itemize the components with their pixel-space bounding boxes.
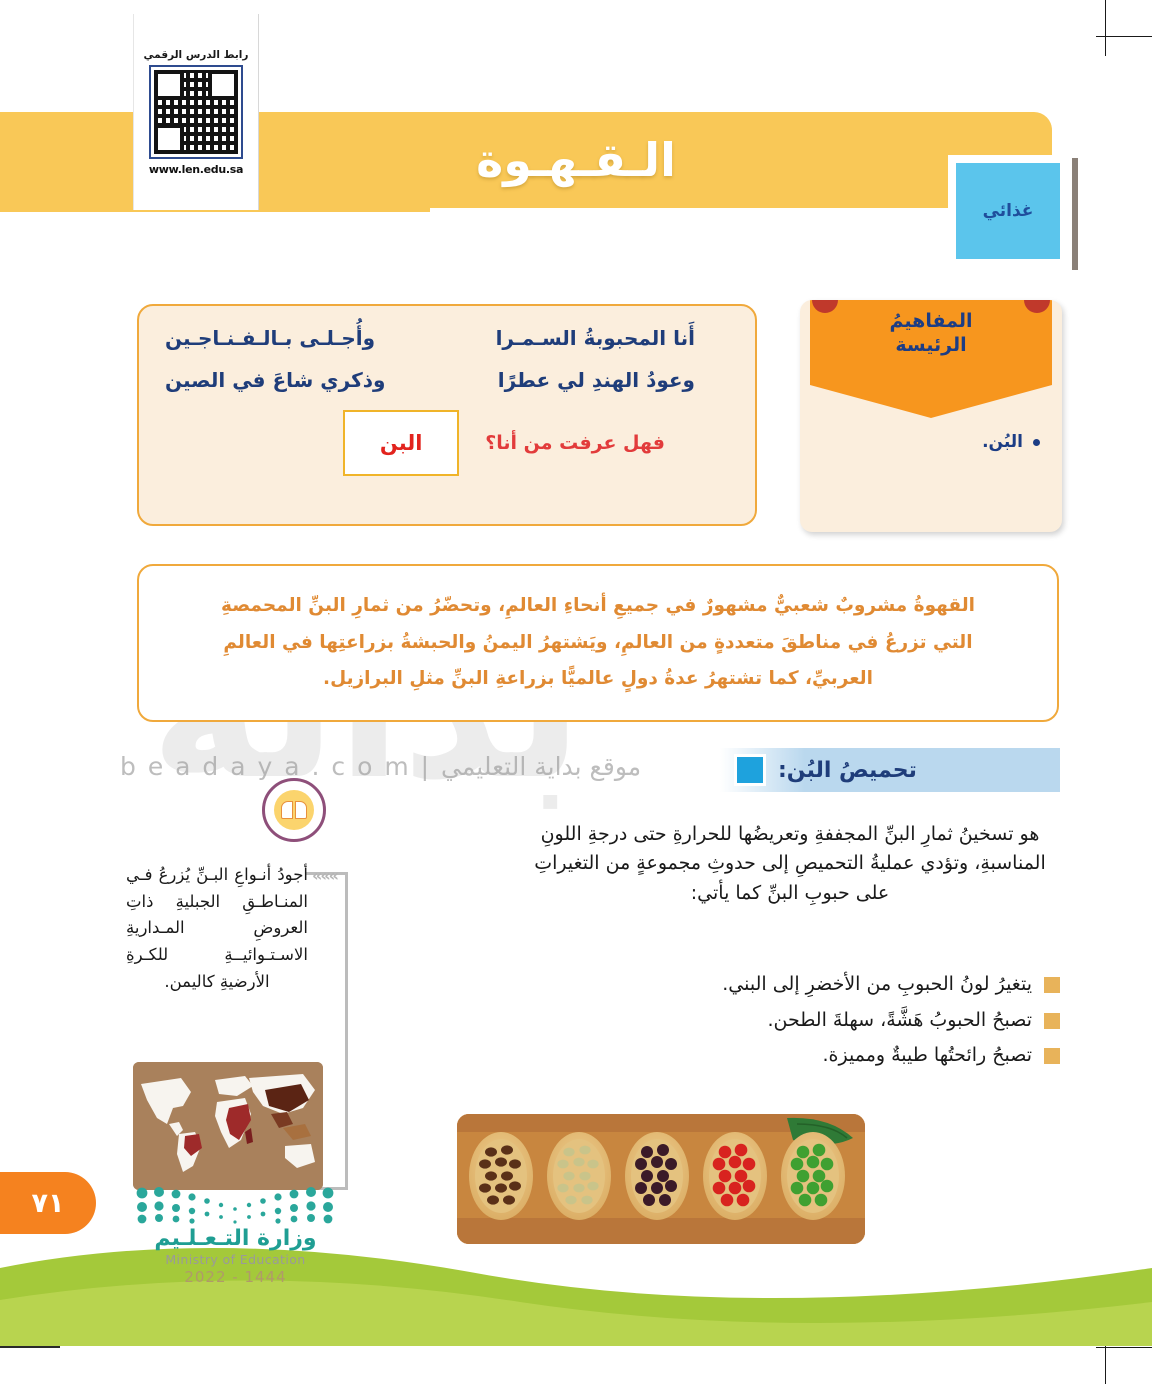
- body-line-3: على حبوبِ البنِّ كما يأتي:: [520, 879, 1060, 908]
- crop-mark-bottom-left: [0, 1346, 60, 1348]
- riddle-line-2-left: وذكري شاعَ في الصين: [165, 368, 385, 392]
- category-tab-label: غذائي: [956, 163, 1060, 259]
- body-line-2: المناسبةِ، وتؤدي عمليةُ التحميصِ إلى حدو…: [520, 849, 1060, 878]
- bullet-label: تصبحُ الحبوبُ هَشَّةً، سهلةَ الطحن.: [767, 1008, 1032, 1033]
- gold-square-bullet-icon: [1044, 977, 1060, 993]
- riddle-line-2: وعودُ الهندِ لي عطرًا وذكري شاعَ في الصي…: [165, 368, 729, 392]
- section-body-text: هو تسخينُ ثمارِ البنِّ المجففةِ وتعريضُه…: [520, 820, 1060, 908]
- ministry-name-english: Ministry of Education: [128, 1252, 343, 1267]
- body-line-1: هو تسخينُ ثمارِ البنِّ المجففةِ وتعريضُه…: [520, 820, 1060, 849]
- intro-line-1: القهوةُ مشروبٌ شعبيٌّ مشهورٌ في جميعِ أن…: [173, 594, 1023, 619]
- bullet-label: تصبحُ رائحتُها طيبةٌ ومميزة.: [823, 1043, 1033, 1068]
- riddle-question-row: فهل عرفت من أنا؟ البن: [165, 410, 729, 476]
- riddle-answer-box[interactable]: البن: [343, 410, 459, 476]
- key-concepts-title-line2: الرئيسة: [895, 334, 966, 358]
- world-coffee-map-image: [133, 1062, 323, 1190]
- list-item: تصبحُ رائحتُها طيبةٌ ومميزة.: [520, 1043, 1060, 1068]
- riddle-line-2-right: وعودُ الهندِ لي عطرًا: [498, 368, 695, 392]
- gold-square-bullet-icon: [1044, 1048, 1060, 1064]
- open-book-icon: [262, 778, 326, 842]
- key-concepts-card: المفاهيمُ الرئيسة البُن.: [800, 300, 1062, 532]
- key-concepts-header: المفاهيمُ الرئيسة: [810, 300, 1052, 418]
- riddle-box: أَنا المحبوبةُ السـمـرا وأُجـلـى بـالـفـ…: [137, 304, 757, 526]
- digital-lesson-qr-card[interactable]: رابط الدرس الرقمي www.len.edu.sa: [133, 14, 259, 210]
- riddle-line-1-right: أَنا المحبوبةُ السـمـرا: [496, 326, 695, 350]
- bullet-dot-icon: [1033, 439, 1040, 446]
- section-bullet-list: يتغيرُ لونُ الحبوبِ من الأخضرِ إلى البني…: [520, 972, 1060, 1079]
- crop-mark-top-right-h: [1096, 36, 1152, 37]
- ministry-logo: وزارة التـعـلـيم Ministry of Education 2…: [128, 1186, 343, 1286]
- category-tab-spine: [1072, 158, 1078, 270]
- ministry-dots-icon: [128, 1186, 343, 1224]
- list-item: البُن.: [822, 432, 1040, 452]
- intro-line-3: العربيِّ، كما تشتهرُ عدةُ دولٍ عالميًّا …: [173, 667, 1023, 692]
- intro-line-2: التي تزرعُ في مناطقَ متعددةٍ من العالمِ،…: [173, 631, 1023, 656]
- crop-mark-top-right: [1105, 0, 1106, 56]
- qr-code-icon[interactable]: [149, 65, 243, 159]
- riddle-line-1-left: وأُجـلـى بـالـفـنـاجـين: [165, 326, 375, 350]
- textbook-page: الـقـهـوة غذائي رابط الدرس الرقمي www.le…: [0, 0, 1152, 1384]
- key-concept-label: البُن.: [982, 432, 1023, 452]
- quote-marks-icon: «««: [312, 866, 337, 885]
- crop-mark-bottom-right-h: [1096, 1347, 1152, 1348]
- list-item: يتغيرُ لونُ الحبوبِ من الأخضرِ إلى البني…: [520, 972, 1060, 997]
- riddle-line-1: أَنا المحبوبةُ السـمـرا وأُجـلـى بـالـفـ…: [165, 326, 729, 350]
- page-number-tab: ٧١: [0, 1172, 96, 1234]
- key-concepts-list: البُن.: [800, 432, 1062, 452]
- watermark-text: b e a d a y a . c o m | موقع بداية التعل…: [120, 752, 760, 781]
- ministry-name-arabic: وزارة التـعـلـيم: [128, 1226, 343, 1251]
- section-heading: تحميصُ البُن:: [720, 748, 1060, 792]
- section-heading-label: تحميصُ البُن:: [778, 758, 917, 783]
- side-note-text: أجودُ أنـواعِ البـنِّ يُزرعُ فـي المنـاط…: [126, 862, 308, 996]
- blue-square-bullet-icon: [734, 754, 766, 786]
- bullet-label: يتغيرُ لونُ الحبوبِ من الأخضرِ إلى البني…: [722, 972, 1032, 997]
- category-tab[interactable]: غذائي: [948, 155, 1070, 267]
- qr-label: رابط الدرس الرقمي: [144, 49, 249, 61]
- gold-square-bullet-icon: [1044, 1013, 1060, 1029]
- edition-year: 2022 - 1444: [128, 1268, 343, 1286]
- qr-url: www.len.edu.sa: [149, 163, 243, 176]
- key-concepts-title-line1: المفاهيمُ: [889, 310, 972, 334]
- intro-paragraph-box: القهوةُ مشروبٌ شعبيٌّ مشهورٌ في جميعِ أن…: [137, 564, 1059, 722]
- riddle-question: فهل عرفت من أنا؟: [485, 432, 665, 454]
- list-item: تصبحُ الحبوبُ هَشَّةً، سهلةَ الطحن.: [520, 1008, 1060, 1033]
